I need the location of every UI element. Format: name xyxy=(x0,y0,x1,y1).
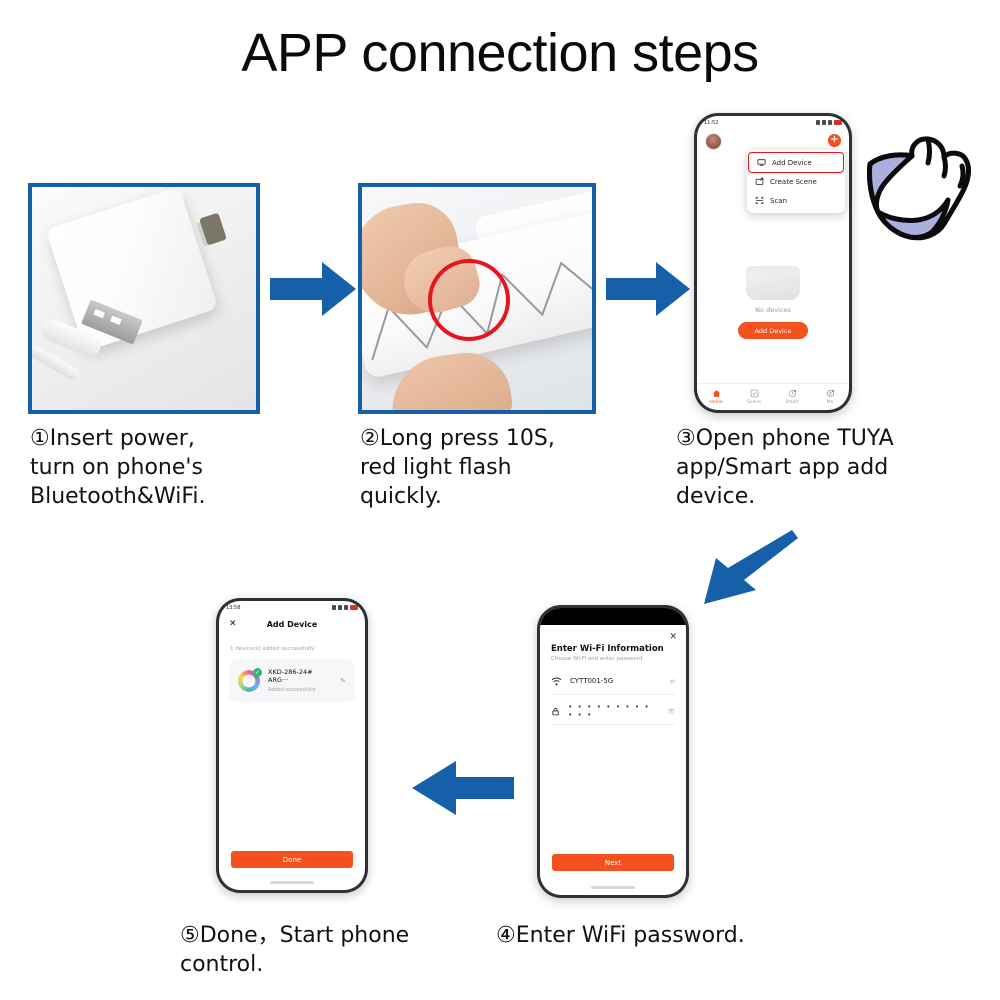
device-icon xyxy=(757,158,766,167)
battery-icon xyxy=(350,605,358,610)
scene-check-icon xyxy=(750,389,759,398)
ssid-row[interactable]: CYTT001-5G ⇄ xyxy=(551,668,675,695)
cellular-icon xyxy=(344,605,348,610)
dropdown-menu: Add Device Create Scene Scan xyxy=(747,150,845,213)
password-row[interactable]: • • • • • • • • • • • • 👁 xyxy=(551,698,675,725)
tab-smart[interactable]: Smart xyxy=(773,384,811,410)
eye-toggle-icon[interactable]: 👁 xyxy=(667,708,675,715)
menu-item-scan[interactable]: Scan xyxy=(747,191,845,210)
switch-network-icon[interactable]: ⇄ xyxy=(670,678,675,685)
home-icon xyxy=(712,389,721,398)
signal-icon xyxy=(332,605,336,610)
device-name: XKD-286-24# ARG··· xyxy=(268,668,332,684)
phone-wifi-info: ✕ Enter Wi-Fi Information Choose Wi-Fi a… xyxy=(537,605,689,898)
hand-pointer-cursor xyxy=(858,130,984,248)
tab-label: Home xyxy=(709,400,722,405)
phone-add-device-menu: 11:52 + Add Device xyxy=(694,113,852,413)
scan-icon xyxy=(755,196,764,205)
caption-step-5: ⑤Done，Start phone control. xyxy=(180,921,480,979)
arrow-step3-to-step4 xyxy=(694,528,798,610)
bottom-tabbar: Home Scene Smart xyxy=(697,383,849,410)
phone5-status-icons xyxy=(332,605,358,610)
avatar[interactable] xyxy=(705,133,722,150)
wifi-icon xyxy=(338,605,342,610)
caption-step-4: ④Enter WiFi password. xyxy=(496,921,816,950)
device-card[interactable]: ✓ XKD-286-24# ARG··· Added successfully … xyxy=(229,659,355,702)
wifi-screen-subtitle: Choose Wi-Fi and enter password xyxy=(551,656,643,662)
phone-added-successfully: 13:58 ✕ Add Device 1 device(s) added suc… xyxy=(216,598,368,893)
device-status: Added successfully xyxy=(268,687,332,693)
edit-pencil-icon[interactable]: ✎ xyxy=(340,677,346,685)
caption-step-3: ③Open phone TUYA app/Smart app add devic… xyxy=(676,424,986,511)
arrow-step2-to-step3 xyxy=(606,258,690,320)
menu-item-add-device[interactable]: Add Device xyxy=(749,153,843,172)
arrow-step1-to-step2 xyxy=(270,258,356,320)
menu-label: Scan xyxy=(770,197,787,205)
close-icon[interactable]: ✕ xyxy=(669,632,677,642)
device-info: XKD-286-24# ARG··· Added successfully xyxy=(268,668,332,693)
caption-step-1: ①Insert power, turn on phone's Bluetooth… xyxy=(30,424,330,511)
add-plus-button[interactable]: + xyxy=(828,134,841,147)
home-indicator xyxy=(591,886,635,889)
done-button[interactable]: Done xyxy=(231,851,353,868)
phone3-statusbar: 11:52 xyxy=(697,116,849,129)
empty-illustration xyxy=(746,266,800,300)
caption-step-2: ②Long press 10S, red light flash quickly… xyxy=(360,424,660,511)
arrow-step4-to-step5 xyxy=(408,757,514,819)
photo-usb-adapter xyxy=(28,183,260,414)
signal-icon xyxy=(816,120,820,125)
device-avatar: ✓ xyxy=(238,670,260,692)
phone3-time: 11:52 xyxy=(704,120,718,126)
menu-item-create-scene[interactable]: Create Scene xyxy=(747,172,845,191)
wifi-icon xyxy=(551,676,562,687)
tab-label: Smart xyxy=(785,400,799,405)
photo-hand-pressing-device xyxy=(358,183,596,414)
phone5-header: ✕ Add Device xyxy=(219,614,365,638)
phone5-time: 13:58 xyxy=(226,605,240,611)
poster-root: APP connection steps xyxy=(0,0,1000,1000)
smart-icon xyxy=(788,389,797,398)
tab-label: Scene xyxy=(747,400,761,405)
phone3-status-icons xyxy=(816,120,842,125)
tab-label: Me xyxy=(827,400,834,405)
lock-icon xyxy=(551,706,560,717)
tab-scene[interactable]: Scene xyxy=(735,384,773,410)
red-highlight-circle xyxy=(428,259,510,341)
password-field[interactable]: • • • • • • • • • • • • xyxy=(568,703,659,719)
tab-home[interactable]: Home xyxy=(697,384,735,410)
page-title: APP connection steps xyxy=(0,22,1000,84)
next-button[interactable]: Next xyxy=(552,854,674,871)
wifi-screen-title: Enter Wi-Fi Information xyxy=(551,644,664,654)
profile-icon xyxy=(826,389,835,398)
tab-me[interactable]: Me xyxy=(811,384,849,410)
ssid-value: CYTT001-5G xyxy=(570,677,613,685)
wifi-icon xyxy=(822,120,826,125)
no-devices-text: No devices xyxy=(697,306,849,314)
header-title: Add Device xyxy=(219,620,365,629)
cellular-icon xyxy=(828,120,832,125)
success-check-icon: ✓ xyxy=(253,668,262,677)
scene-icon xyxy=(755,177,764,186)
phone4-notch-statusbar xyxy=(540,608,686,625)
battery-icon xyxy=(834,120,842,125)
home-indicator xyxy=(270,881,314,884)
menu-label: Create Scene xyxy=(770,178,817,186)
added-count-note: 1 device(s) added successfully xyxy=(219,638,365,652)
menu-label: Add Device xyxy=(772,159,812,167)
phone5-statusbar: 13:58 xyxy=(219,601,365,614)
add-device-button[interactable]: Add Device xyxy=(738,322,808,339)
empty-state: No devices Add Device xyxy=(697,266,849,339)
